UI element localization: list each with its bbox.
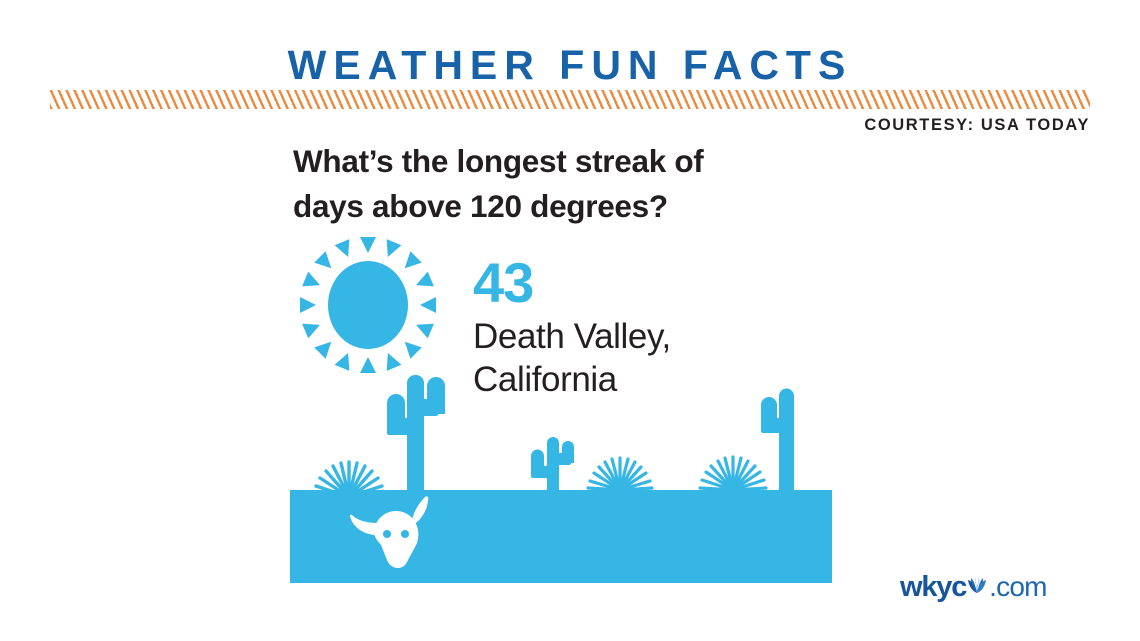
cactus-icon-small-middle: [531, 437, 574, 497]
logo-wordmark: wkyc: [900, 571, 966, 604]
answer-block: 43 Death Valley, California: [473, 257, 803, 401]
wkyc-logo[interactable]: wkyc .com: [900, 570, 1095, 604]
ground-bar: [290, 490, 832, 583]
cow-skull-icon: [350, 496, 428, 568]
sun-icon: [300, 237, 436, 373]
answer-location: Death Valley, California: [473, 315, 803, 401]
question-text: What’s the longest streak of days above …: [293, 139, 873, 228]
bush-icon-middle: [588, 458, 652, 490]
orange-stripe-divider: [50, 90, 1090, 109]
answer-location-line-1: Death Valley,: [473, 315, 803, 358]
cactus-icon-tall-left: [387, 375, 445, 497]
answer-number: 43: [473, 257, 803, 309]
page-title: WEATHER FUN FACTS: [0, 42, 1140, 89]
logo-suffix: .com: [989, 571, 1046, 603]
question-line-2: days above 120 degrees?: [293, 184, 873, 229]
courtesy-credit: COURTESY: USA TODAY: [864, 116, 1090, 135]
weather-fun-facts-graphic: WEATHER FUN FACTS COURTESY: USA TODAY Wh…: [0, 0, 1140, 641]
bush-icon-right: [700, 457, 766, 490]
cactus-icon-right: [761, 389, 794, 497]
peacock-icon: [966, 576, 988, 598]
question-line-1: What’s the longest streak of: [293, 139, 873, 184]
answer-location-line-2: California: [473, 358, 803, 401]
bush-icon-left: [314, 462, 384, 497]
